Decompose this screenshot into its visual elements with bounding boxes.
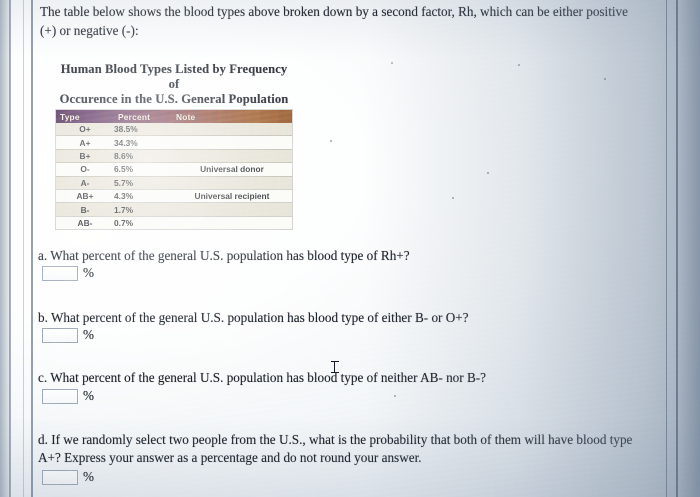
dust-speck xyxy=(518,64,520,66)
right-edge-line-1 xyxy=(666,0,667,497)
photographed-screen: The table below shows the blood types ab… xyxy=(0,0,700,497)
dust-speck xyxy=(487,172,489,174)
left-edge-line-2 xyxy=(23,0,24,497)
dust-speck xyxy=(452,197,454,199)
dust-speck xyxy=(391,62,393,64)
left-edge-line-1 xyxy=(9,0,11,497)
right-bezel-shadow xyxy=(678,0,700,497)
right-edge-line-2 xyxy=(676,0,678,497)
screen-vignette-vertical xyxy=(0,0,700,497)
dust-speck xyxy=(394,395,396,397)
dust-speck xyxy=(604,78,606,80)
left-edge-line-3 xyxy=(31,0,33,497)
dust-speck xyxy=(330,140,332,142)
